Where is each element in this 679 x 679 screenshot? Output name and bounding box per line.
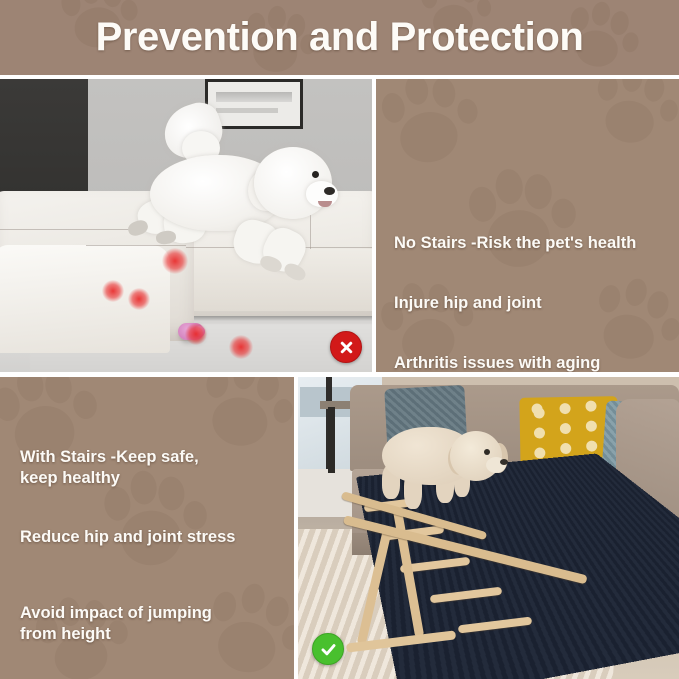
- dog-eye: [312, 171, 319, 178]
- dog-eye: [484, 449, 490, 455]
- side-table-leg: [328, 407, 335, 473]
- pain-point-rear-leg: [128, 288, 150, 310]
- pain-point-front-leg: [185, 323, 207, 345]
- risk-line-2: Injure hip and joint: [394, 293, 542, 314]
- check-icon: [312, 633, 344, 665]
- pain-point-shoulder: [102, 280, 124, 302]
- pillow-dot: [560, 423, 571, 434]
- dog-nose: [500, 459, 508, 465]
- risk-line-1: No Stairs -Risk the pet's health: [394, 233, 636, 254]
- dog-ramp-photo: [298, 377, 679, 679]
- pillow-dot: [585, 401, 596, 412]
- benefit-line-3: Avoid impact of jumping from height: [20, 603, 212, 645]
- pain-point-hip: [162, 248, 188, 274]
- ramp-dog: [374, 409, 502, 515]
- benefit-line-2: Reduce hip and joint stress: [20, 527, 235, 548]
- benefit-line-1: With Stairs -Keep safe, keep healthy: [20, 447, 199, 489]
- pillow-dot: [586, 441, 597, 452]
- dog-head: [450, 431, 502, 481]
- pillow-dot: [534, 447, 545, 458]
- risks-text-list: No Stairs -Risk the pet's health Injure …: [376, 79, 679, 372]
- benefits-text-list: With Stairs -Keep safe, keep healthy Red…: [0, 377, 294, 679]
- dog-jumping-photo: [0, 79, 372, 372]
- benefits-text-panel: With Stairs -Keep safe, keep healthy Red…: [0, 377, 294, 679]
- pillow-dot: [559, 403, 570, 414]
- pillow-dot: [534, 427, 545, 438]
- ramp-living-room-scene: [298, 377, 679, 679]
- cross-icon: [330, 331, 362, 363]
- pillow-dot: [560, 443, 571, 454]
- infographic-page: Prevention and Protection: [0, 0, 679, 679]
- header-banner: Prevention and Protection: [0, 0, 679, 75]
- dog-nose: [324, 187, 335, 195]
- risks-text-panel: No Stairs -Risk the pet's health Injure …: [376, 79, 679, 372]
- pain-point-front-paw: [229, 335, 253, 359]
- risk-line-3: Arthritis issues with aging: [394, 353, 600, 372]
- pillow-dot: [586, 421, 597, 432]
- dog-paw-2: [155, 230, 177, 246]
- page-title: Prevention and Protection: [0, 0, 679, 75]
- living-room-scene: [0, 79, 372, 372]
